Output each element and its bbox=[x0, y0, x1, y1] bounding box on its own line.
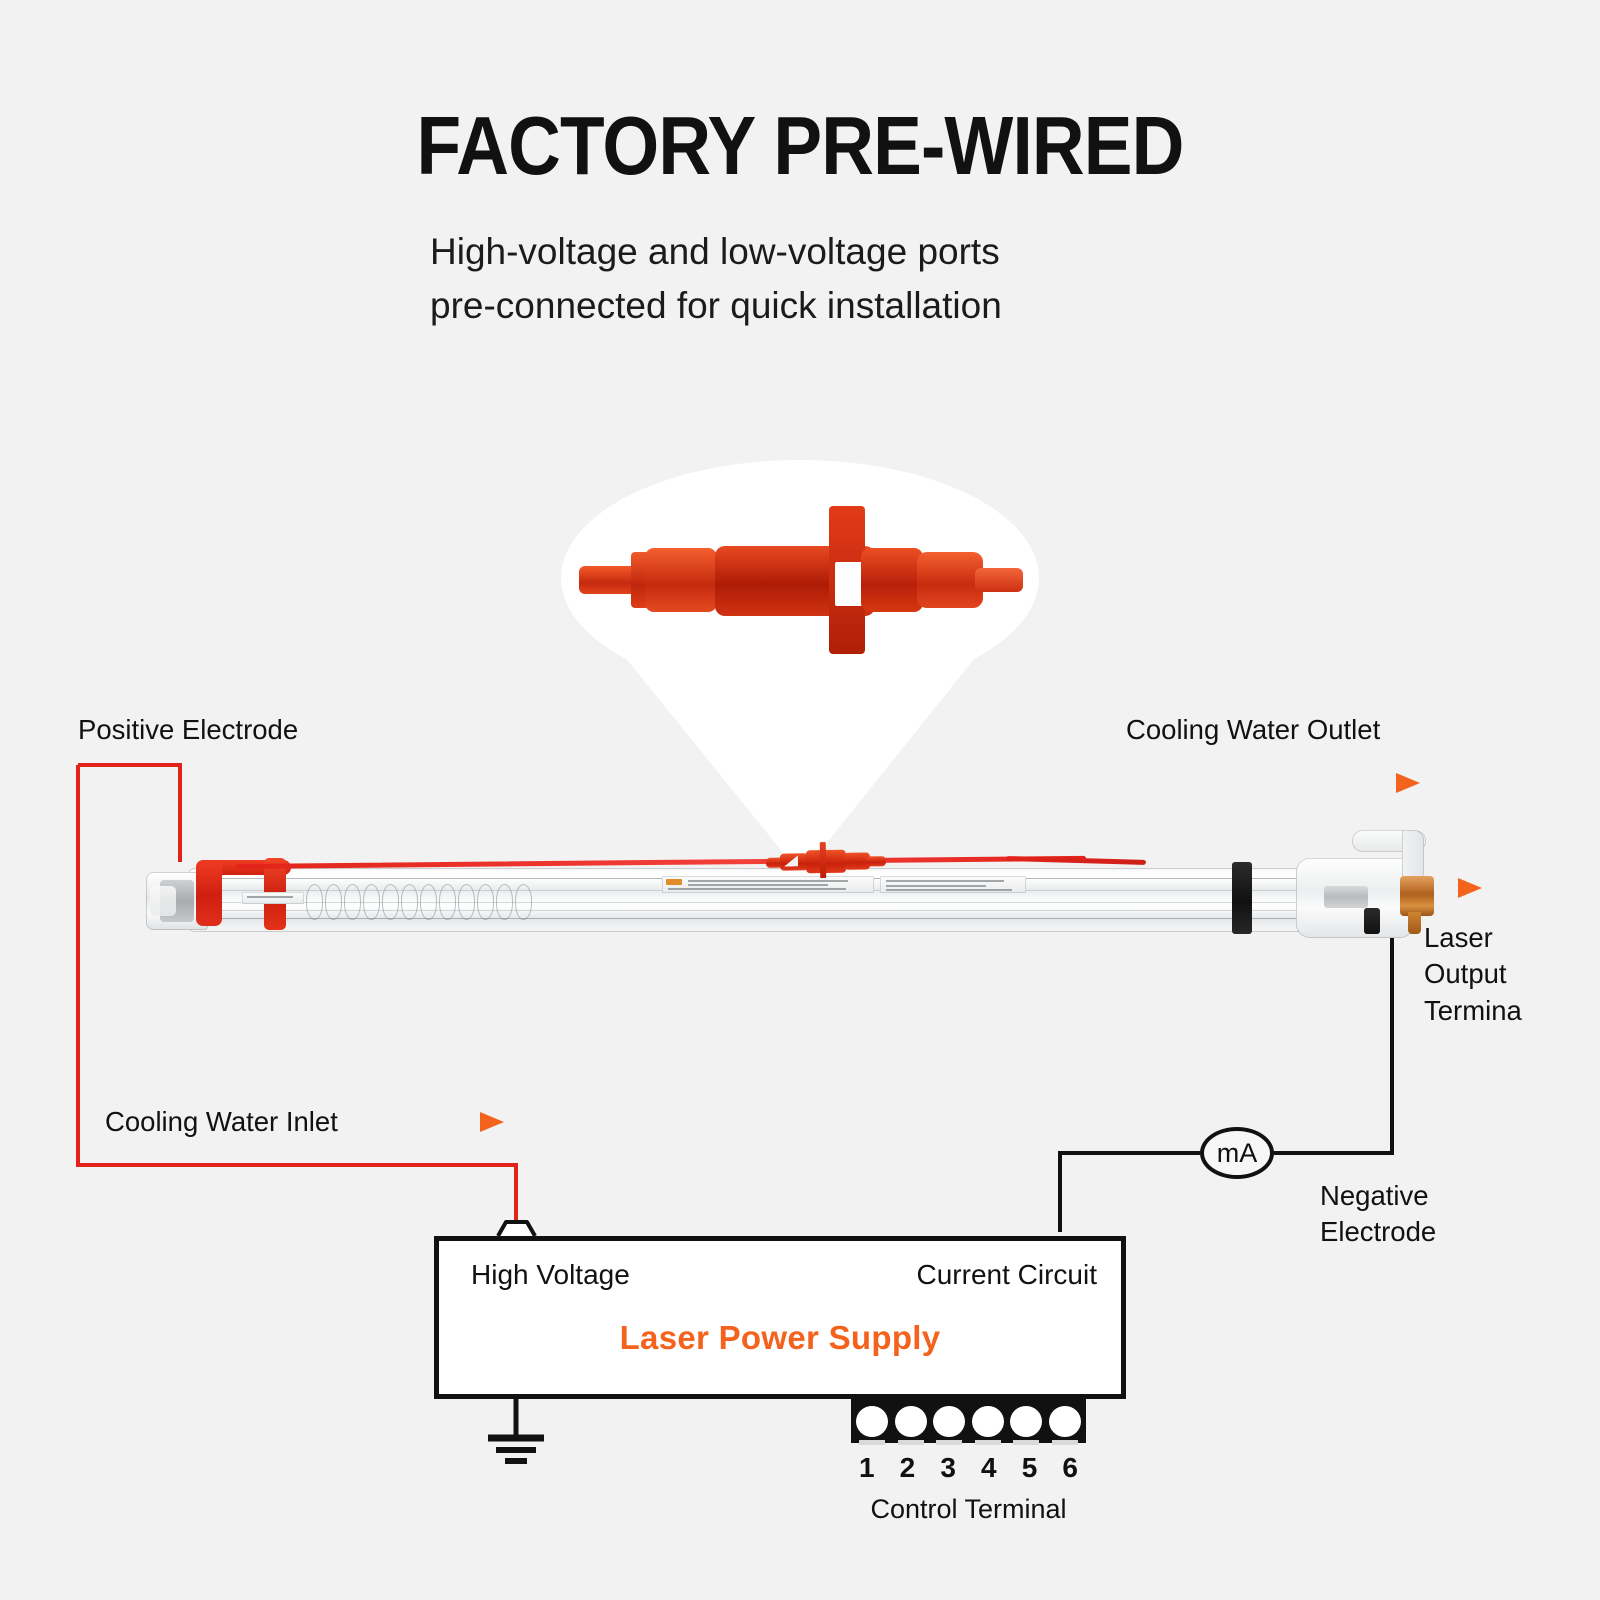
label-cooling-water-outlet: Cooling Water Outlet bbox=[1126, 712, 1380, 748]
label-current-circuit: Current Circuit bbox=[917, 1259, 1097, 1291]
terminal-number: 2 bbox=[900, 1452, 916, 1484]
tube-label-sticker bbox=[880, 876, 1026, 893]
label-positive-electrode: Positive Electrode bbox=[78, 712, 298, 748]
tube-name-plate bbox=[242, 892, 304, 904]
terminal-number: 6 bbox=[1062, 1452, 1078, 1484]
tube-left-nose bbox=[150, 886, 176, 916]
label-laser-power-supply: Laser Power Supply bbox=[439, 1319, 1121, 1357]
hv-terminal-trapezoid bbox=[498, 1222, 535, 1236]
hv-connector-icon bbox=[766, 847, 886, 875]
terminal-number: 5 bbox=[1022, 1452, 1038, 1484]
terminal-pin[interactable] bbox=[856, 1406, 888, 1437]
hv-wire bbox=[1006, 856, 1146, 865]
electrode-coil-icon bbox=[306, 882, 536, 920]
cooling-water-outlet-elbow bbox=[1402, 830, 1424, 882]
terminal-number: 3 bbox=[940, 1452, 956, 1484]
arrow-right-icon bbox=[1357, 773, 1420, 793]
cathode-wire-boot bbox=[1364, 908, 1380, 934]
terminal-pin[interactable] bbox=[1049, 1406, 1081, 1437]
label-control-terminal: Control Terminal bbox=[851, 1492, 1086, 1528]
terminal-pin[interactable] bbox=[972, 1406, 1004, 1437]
output-mirror-icon bbox=[1324, 886, 1368, 908]
label-laser-output-terminal: Laser Output Termina bbox=[1424, 920, 1522, 1029]
wire-meter-to-supply bbox=[1060, 1153, 1200, 1232]
label-negative-electrode: Negative Electrode bbox=[1320, 1178, 1436, 1251]
laser-output-terminal-nub bbox=[1408, 912, 1421, 934]
terminal-pin[interactable] bbox=[933, 1406, 965, 1437]
control-terminal-numbers: 1 2 3 4 5 6 bbox=[851, 1452, 1086, 1484]
label-cooling-water-inlet: Cooling Water Inlet bbox=[105, 1104, 338, 1140]
wire-hv-to-supply bbox=[78, 765, 516, 1232]
terminal-pin[interactable] bbox=[895, 1406, 927, 1437]
terminal-number: 4 bbox=[981, 1452, 997, 1484]
laser-output-terminal-icon bbox=[1400, 876, 1434, 916]
laser-power-supply-box: High Voltage Current Circuit Laser Power… bbox=[434, 1236, 1126, 1399]
control-terminal-strip[interactable] bbox=[851, 1399, 1086, 1443]
black-collar bbox=[1232, 862, 1252, 934]
arrow-right-icon bbox=[440, 1112, 504, 1132]
ground-icon bbox=[488, 1399, 544, 1461]
terminal-pin[interactable] bbox=[1010, 1406, 1042, 1437]
laser-tube bbox=[146, 846, 1408, 952]
ammeter-icon: mA bbox=[1200, 1127, 1274, 1179]
label-high-voltage: High Voltage bbox=[471, 1259, 630, 1291]
tube-label-sticker bbox=[662, 876, 874, 893]
hv-cable-boot bbox=[196, 860, 222, 926]
terminal-number: 1 bbox=[859, 1452, 875, 1484]
